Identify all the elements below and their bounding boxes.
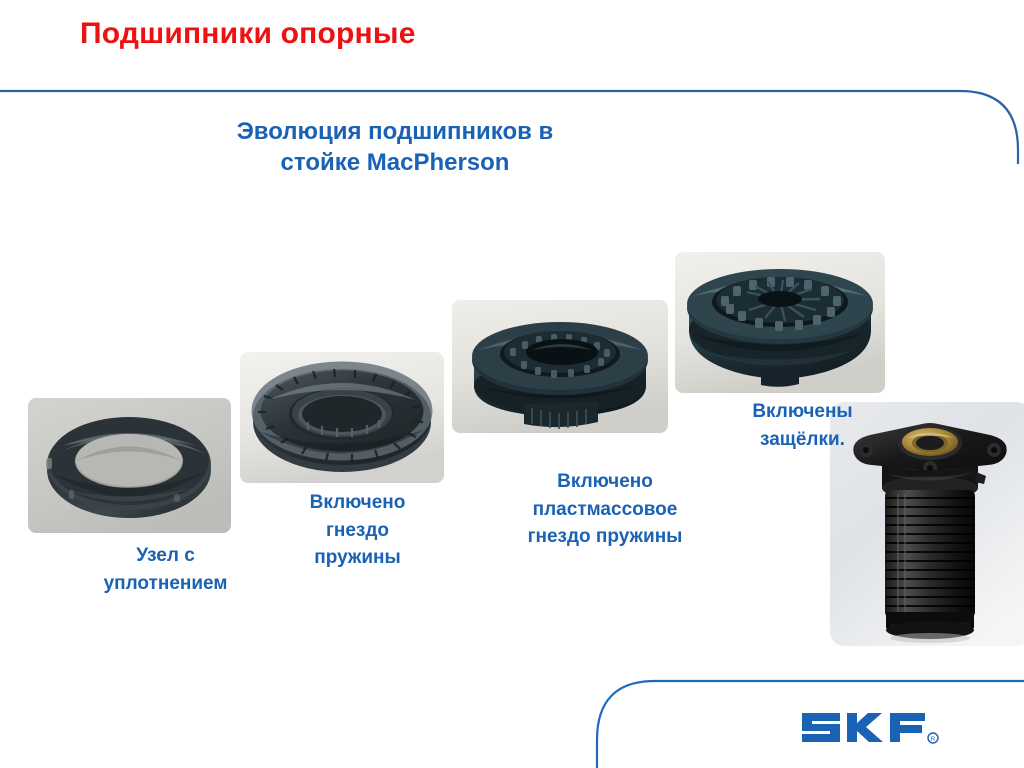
photo-bearing-with-clips [675,252,885,393]
skf-logo: R [800,705,950,749]
page-subtitle: Эволюция подшипников в стойке MacPherson [160,117,630,178]
caption-2-line-2: гнездо [265,517,450,545]
caption-plastic-spring-seat: Включено пластмассовое гнездо пружины [470,468,740,551]
caption-spring-seat: Включено гнездо пружины [265,489,450,572]
page-title: Подшипники опорные [80,17,416,51]
caption-4-line-1: Включены [700,398,905,426]
photo-bearing-with-spring-seat [240,352,444,483]
caption-3-line-3: гнездо пружины [470,523,740,551]
subtitle-line-2: стойке MacPherson [160,148,630,179]
subtitle-line-1: Эволюция подшипников в [160,117,630,148]
photo-bearing-with-plastic-spring-seat [452,300,668,433]
caption-4-line-2: защёлки. [700,426,905,454]
caption-2-line-3: пружины [265,544,450,572]
photo-sealed-bearing-ring [28,398,231,533]
slide-canvas: Подшипники опорные Эволюция подшипников … [0,0,1024,768]
caption-2-line-1: Включено [265,489,450,517]
caption-sealed-assembly: Узел с уплотнением [58,542,273,597]
svg-text:R: R [931,737,936,743]
caption-1-line-1: Узел с [58,542,273,570]
caption-3-line-1: Включено [470,468,740,496]
caption-clips: Включены защёлки. [700,398,905,453]
caption-3-line-2: пластмассовое [470,496,740,524]
caption-1-line-2: уплотнением [58,570,273,598]
